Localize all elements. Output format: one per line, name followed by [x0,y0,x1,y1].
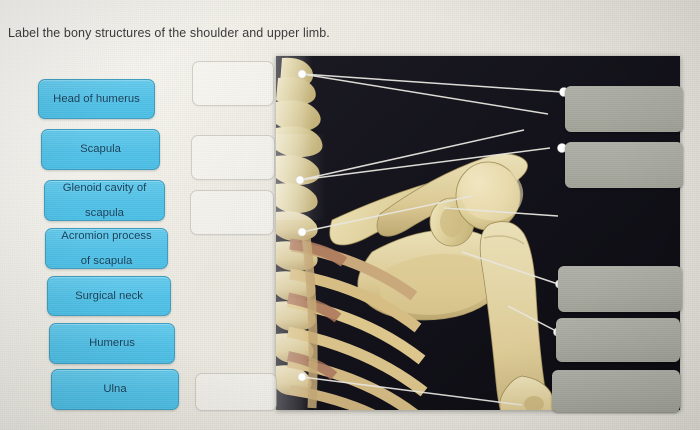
term-chip-line: Scapula [80,143,121,156]
term-chip-acromion-process-of-scapula[interactable]: Acromion processof scapula [45,228,168,269]
term-chip-line: Surgical neck [75,290,143,303]
term-chip-humerus[interactable]: Humerus [49,323,175,364]
term-chip-scapula[interactable]: Scapula [41,129,160,170]
term-chip-line: Humerus [89,337,135,350]
term-chip-line: scapula [85,207,124,220]
term-chip-line: Ulna [103,383,126,396]
drop-slot-left-4[interactable] [195,373,277,411]
term-chip-ulna[interactable]: Ulna [51,369,179,410]
drop-box-right-2[interactable] [565,142,683,188]
term-chip-line: Acromion process [61,230,151,243]
drop-slot-left-1[interactable] [192,61,274,106]
question-prompt: Label the bony structures of the shoulde… [8,26,330,40]
term-chip-glenoid-cavity-of-scapula[interactable]: Glenoid cavity ofscapula [44,180,165,221]
term-chip-line: Head of humerus [53,93,140,106]
term-chip-surgical-neck[interactable]: Surgical neck [47,276,171,316]
drop-box-right-5[interactable] [552,370,680,412]
drop-box-right-3[interactable] [558,266,682,312]
term-chip-line: of scapula [81,255,133,268]
term-chip-head-of-humerus[interactable]: Head of humerus [38,79,155,119]
drop-slot-left-2[interactable] [191,135,275,180]
drop-box-right-4[interactable] [556,318,680,362]
drop-box-right-1[interactable] [565,86,683,132]
term-chip-line: Glenoid cavity of [63,182,147,195]
drop-slot-left-3[interactable] [190,190,274,235]
